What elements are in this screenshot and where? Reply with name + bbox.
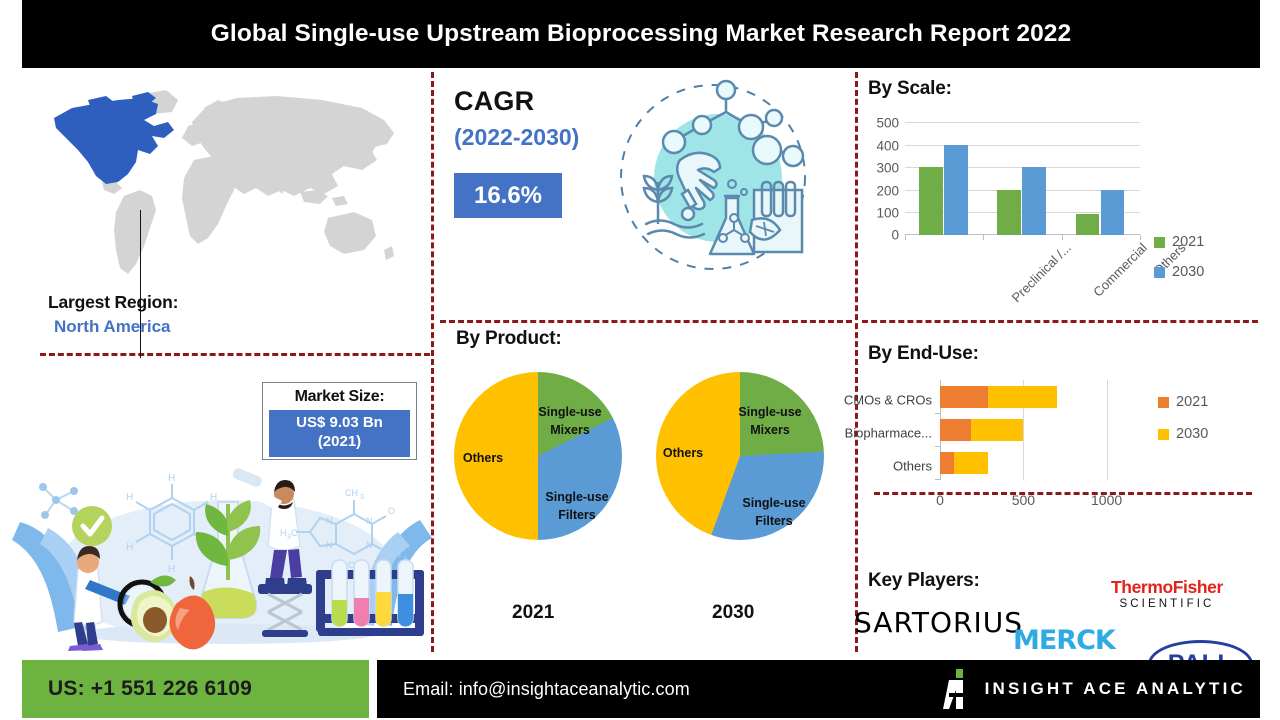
y-tick-300: 300 bbox=[876, 161, 899, 176]
largest-region-value: North America bbox=[54, 317, 178, 337]
svg-text:N: N bbox=[366, 516, 373, 526]
pie-2021-year-label: 2021 bbox=[512, 602, 554, 624]
x-tick-1000: 1000 bbox=[1091, 492, 1122, 508]
pie-2021-mixers-label: Single-useMixers bbox=[522, 403, 618, 439]
by-end-use-plot: CMOs & CROs Biopharmace... Others 0 500 … bbox=[940, 380, 1140, 480]
middle-panel: CAGR (2022-2030) 16.6% bbox=[434, 70, 854, 655]
market-size-box: Market Size: US$ 9.03 Bn (2021) bbox=[262, 382, 417, 460]
largest-region-label: Largest Region: bbox=[48, 292, 178, 313]
row-label-biopharma: Biopharmace... bbox=[845, 426, 932, 441]
legend-label-2030: 2030 bbox=[1172, 264, 1204, 280]
pie-2030-year-label: 2030 bbox=[712, 602, 754, 624]
legend-swatch-2030 bbox=[1154, 267, 1165, 278]
bar-biopharma-2030 bbox=[971, 419, 1024, 441]
merck-logo: MERCK bbox=[1013, 625, 1115, 656]
by-scale-legend: 2021 2030 bbox=[1154, 234, 1204, 294]
eu-legend-swatch-2030 bbox=[1158, 429, 1169, 440]
bar-endother-2021 bbox=[940, 452, 954, 474]
y-tick-200: 200 bbox=[876, 183, 899, 198]
x-label-commercial: Commercial bbox=[1090, 240, 1150, 300]
svg-text:O: O bbox=[388, 506, 395, 516]
bar-group-preclinical bbox=[905, 122, 983, 235]
pie-2030-mixers-label: Single-useMixers bbox=[722, 403, 818, 439]
thermo-fisher-logo: ThermoFisher SCIENTIFIC bbox=[1111, 578, 1223, 612]
eu-legend-label-2030: 2030 bbox=[1176, 426, 1208, 442]
pie-2021-filters-label: Single-useFilters bbox=[529, 488, 625, 524]
svg-text:N: N bbox=[366, 540, 373, 550]
by-end-use-title: By End-Use: bbox=[868, 343, 979, 365]
y-tick-0: 0 bbox=[891, 228, 899, 243]
market-size-value-line1: US$ 9.03 Bn bbox=[269, 414, 410, 433]
thermo-fisher-wordmark: ThermoFisher bbox=[1111, 578, 1223, 596]
by-scale-title: By Scale: bbox=[868, 78, 952, 100]
bar-others-2021 bbox=[1076, 214, 1099, 235]
sartorius-logo: SARTORIUS bbox=[854, 606, 1023, 639]
bar-cmos-2030 bbox=[988, 386, 1056, 408]
svg-text:H: H bbox=[126, 492, 133, 503]
svg-text:N: N bbox=[326, 516, 333, 526]
bar-preclinical-2030 bbox=[944, 145, 967, 235]
market-size-label: Market Size: bbox=[263, 383, 416, 406]
pie-2030-others-label: Others bbox=[652, 444, 714, 462]
brand-block: INSIGHT ACE ANALYTIC bbox=[943, 660, 1246, 718]
pie-2021-others-label: Others bbox=[452, 449, 514, 467]
cagr-years: (2022-2030) bbox=[454, 124, 579, 151]
legend-item-2021: 2021 bbox=[1154, 234, 1204, 250]
bar-commercial-2021 bbox=[997, 190, 1020, 235]
x-label-preclinical: Preclinical /... bbox=[1009, 240, 1074, 305]
footer-email: Email: info@insightaceanalytic.com bbox=[377, 679, 690, 700]
bar-commercial-2030 bbox=[1022, 167, 1045, 235]
pie-2030-filters-label: Single-useFilters bbox=[726, 494, 822, 530]
by-product-title: By Product: bbox=[456, 328, 561, 350]
footer-contact-block: Email: info@insightaceanalytic.com INSIG… bbox=[377, 660, 1260, 718]
cagr-value-badge: 16.6% bbox=[454, 173, 562, 218]
x-tick-500: 500 bbox=[1012, 492, 1035, 508]
by-end-use-legend: 2021 2030 bbox=[1158, 394, 1208, 458]
y-tick-400: 400 bbox=[876, 138, 899, 153]
svg-text:H: H bbox=[280, 528, 287, 538]
eu-legend-label-2021: 2021 bbox=[1176, 394, 1208, 410]
svg-text:3: 3 bbox=[360, 494, 364, 501]
eu-legend-item-2030: 2030 bbox=[1158, 426, 1208, 442]
thermo-fisher-subtext: SCIENTIFIC bbox=[1111, 596, 1223, 612]
world-map-icon bbox=[32, 78, 424, 293]
y-tick-500: 500 bbox=[876, 116, 899, 131]
market-size-value: US$ 9.03 Bn (2021) bbox=[269, 410, 410, 457]
svg-text:CH: CH bbox=[388, 550, 401, 560]
eu-legend-item-2021: 2021 bbox=[1158, 394, 1208, 410]
cagr-label: CAGR bbox=[454, 86, 534, 117]
legend-swatch-2021 bbox=[1154, 237, 1165, 248]
header-bar: Global Single-use Upstream Bioprocessing… bbox=[22, 0, 1260, 68]
by-scale-chart: 500 400 300 200 100 0 bbox=[858, 112, 1260, 332]
svg-text:N: N bbox=[326, 540, 333, 550]
svg-text:C: C bbox=[291, 528, 298, 538]
eu-legend-swatch-2021 bbox=[1158, 397, 1169, 408]
bar-biopharma-2021 bbox=[940, 419, 971, 441]
bar-cmos-2021 bbox=[940, 386, 988, 408]
svg-text:H: H bbox=[126, 542, 133, 553]
infographic-page: Global Single-use Upstream Bioprocessing… bbox=[0, 0, 1280, 720]
legend-item-2030: 2030 bbox=[1154, 264, 1204, 280]
x-tick-0: 0 bbox=[936, 492, 944, 508]
bar-endother-2030 bbox=[954, 452, 988, 474]
lab-research-illustration: HHH HHH bbox=[0, 462, 440, 657]
legend-label-2021: 2021 bbox=[1172, 234, 1204, 250]
bioprocessing-lab-icon bbox=[614, 78, 812, 276]
bar-preclinical-2021 bbox=[919, 167, 942, 235]
page-title: Global Single-use Upstream Bioprocessing… bbox=[211, 20, 1072, 48]
row-label-cmos-cros: CMOs & CROs bbox=[844, 393, 932, 408]
right-panel: By Scale: 500 400 300 200 100 0 bbox=[858, 70, 1260, 655]
svg-text:H: H bbox=[168, 473, 175, 484]
bar-group-commercial bbox=[983, 122, 1061, 235]
insight-ace-mark-icon bbox=[943, 669, 969, 709]
bar-group-others bbox=[1062, 122, 1140, 235]
left-panel: Largest Region: North America Market Siz… bbox=[22, 70, 430, 655]
footer-phone-block: US: +1 551 226 6109 bbox=[22, 660, 369, 718]
by-end-use-chart: CMOs & CROs Biopharmace... Others 0 500 … bbox=[858, 372, 1260, 532]
key-players-title: Key Players: bbox=[868, 570, 980, 592]
brand-name: INSIGHT ACE ANALYTIC bbox=[985, 679, 1246, 699]
y-tick-100: 100 bbox=[876, 206, 899, 221]
largest-region-block: Largest Region: North America bbox=[48, 292, 178, 337]
footer-phone: US: +1 551 226 6109 bbox=[22, 677, 252, 701]
row-label-others: Others bbox=[893, 459, 932, 474]
svg-text:H: H bbox=[210, 492, 217, 503]
bar-others-2030 bbox=[1101, 190, 1124, 235]
svg-text:H: H bbox=[168, 564, 175, 575]
market-size-value-line2: (2021) bbox=[269, 433, 410, 452]
svg-text:CH: CH bbox=[345, 488, 358, 498]
by-scale-plot: 500 400 300 200 100 0 bbox=[905, 122, 1140, 235]
